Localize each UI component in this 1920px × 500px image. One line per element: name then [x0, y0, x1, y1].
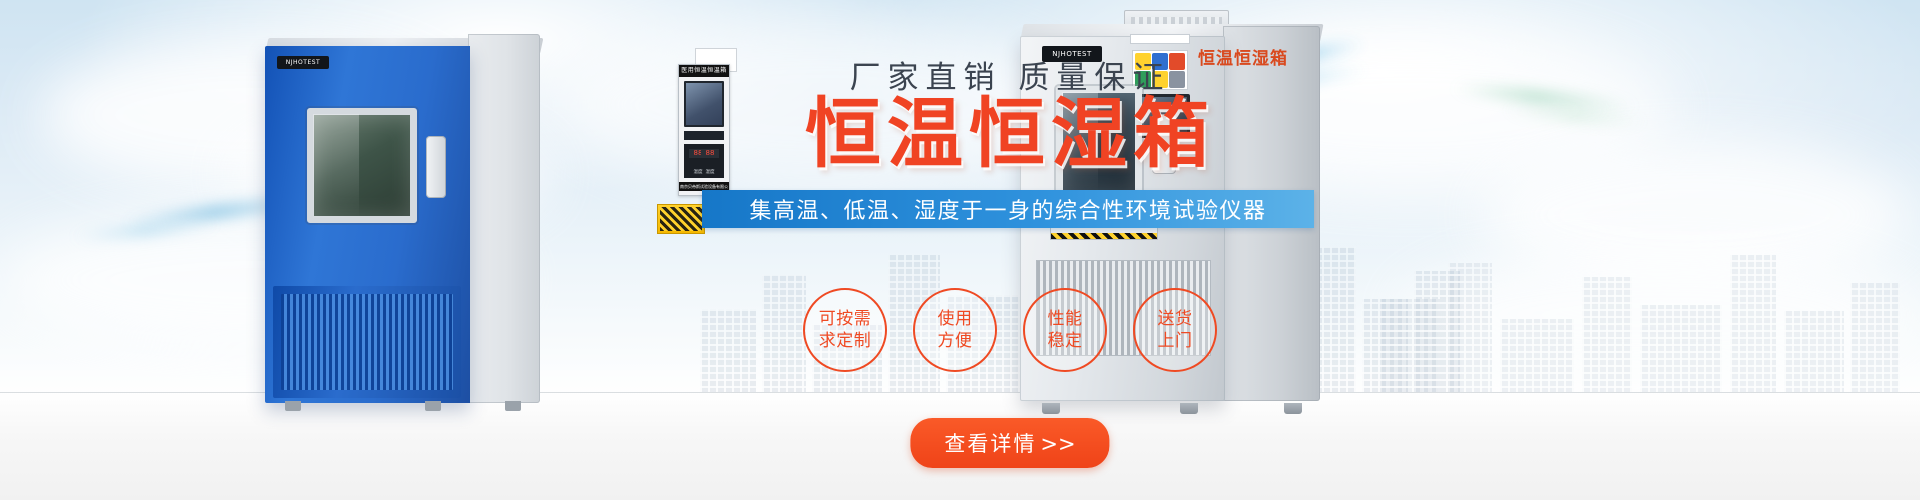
feature-line-1: 可按需 [819, 308, 872, 330]
chamber-side-panel [468, 34, 540, 403]
view-details-button[interactable]: 查看详情>> [910, 418, 1109, 468]
city-skyline-watermark-right [1380, 250, 1900, 395]
banner-headline: 恒温恒湿箱 [640, 86, 1380, 182]
feature-circle-stable[interactable]: 性能 稳定 [1023, 288, 1107, 372]
chamber-foot [425, 401, 441, 411]
chevron-right-icon: >> [1040, 432, 1075, 456]
banner-subtitle-bar: 集高温、低温、湿度于一身的综合性环境试验仪器 [702, 190, 1314, 228]
feature-line-1: 使用 [938, 308, 973, 330]
cta-label: 查看详情 [944, 432, 1036, 456]
feature-line-2: 上门 [1158, 330, 1193, 352]
feature-line-1: 性能 [1048, 308, 1083, 330]
chamber-door-handle [426, 136, 446, 198]
chamber-foot [505, 401, 521, 411]
promo-banner: NJHOTEST 医用恒温恒温箱 88 88 温度 湿度 南京贝帝斯试验设备有限… [0, 0, 1920, 500]
feature-line-1: 送货 [1158, 308, 1193, 330]
feature-line-2: 稳定 [1048, 330, 1083, 352]
product-image-left-chamber: NJHOTEST 医用恒温恒温箱 88 88 温度 湿度 南京贝帝斯试验设备有限… [265, 28, 540, 403]
window-glare [313, 114, 359, 218]
chamber-vent-grille [281, 294, 453, 390]
banner-subtitle-text: 集高温、低温、湿度于一身的综合性环境试验仪器 [749, 193, 1266, 225]
feature-circle-custom[interactable]: 可按需 求定制 [803, 288, 887, 372]
feature-line-2: 求定制 [819, 330, 872, 352]
feature-circle-delivery[interactable]: 送货 上门 [1133, 288, 1217, 372]
feature-circle-list: 可按需 求定制 使用 方便 性能 稳定 送货 上门 [640, 288, 1380, 396]
feature-line-2: 方便 [938, 330, 973, 352]
brand-plate-left: NJHOTEST [277, 56, 329, 69]
feature-circle-easy-use[interactable]: 使用 方便 [913, 288, 997, 372]
chamber-foot [285, 401, 301, 411]
banner-copy-block: 厂家直销 质量保证 恒温恒湿箱 集高温、低温、湿度于一身的综合性环境试验仪器 可… [640, 0, 1380, 500]
